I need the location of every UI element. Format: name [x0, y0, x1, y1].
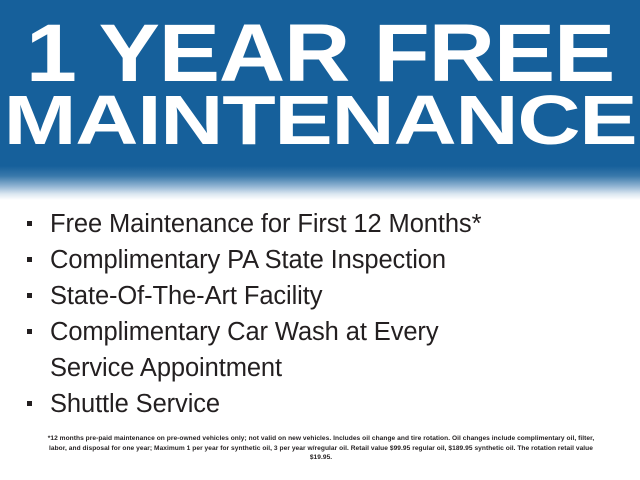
square-bullet-icon: [27, 401, 32, 406]
square-bullet-icon: [27, 257, 32, 262]
list-item: Free Maintenance for First 12 Months*: [0, 206, 640, 242]
list-item: State-Of-The-Art Facility: [0, 278, 640, 314]
square-bullet-icon: [27, 329, 32, 334]
benefit-label-line-1: Complimentary Car Wash at Every: [50, 314, 640, 350]
benefit-label: Free Maintenance for First 12 Months*: [50, 206, 640, 242]
promo-banner: 1 YEAR FREE MAINTENANCE: [0, 0, 640, 200]
benefit-label: Complimentary Car Wash at Every Service …: [50, 314, 640, 386]
list-item: Complimentary Car Wash at Every Service …: [0, 314, 640, 386]
benefits-list: Free Maintenance for First 12 Months* Co…: [0, 206, 640, 422]
maintenance-promo-ad: 1 YEAR FREE MAINTENANCE Free Maintenance…: [0, 0, 640, 480]
square-bullet-icon: [27, 293, 32, 298]
benefit-label: Shuttle Service: [50, 386, 640, 422]
list-item: Complimentary PA State Inspection: [0, 242, 640, 278]
disclaimer-line-1: *12 months pre-paid maintenance on pre-o…: [48, 435, 422, 442]
square-bullet-icon: [27, 221, 32, 226]
disclaimer-text: *12 months pre-paid maintenance on pre-o…: [40, 434, 602, 463]
disclaimer-line-3: oil, 3 per year w/regular oil. Retail va…: [262, 445, 593, 462]
benefit-label-line-2: Service Appointment: [50, 350, 640, 386]
list-item: Shuttle Service: [0, 386, 640, 422]
headline-line-2: MAINTENANCE: [0, 84, 640, 156]
benefit-label: Complimentary PA State Inspection: [50, 242, 640, 278]
benefit-label: State-Of-The-Art Facility: [50, 278, 640, 314]
